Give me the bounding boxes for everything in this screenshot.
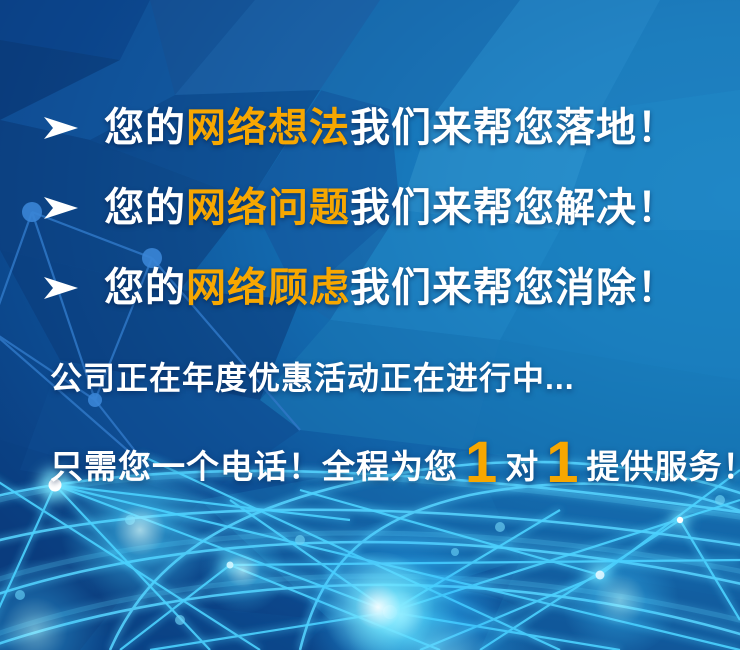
bullet-2-highlight: 网络问题 <box>186 186 350 230</box>
bullet-1-prefix: 您的 <box>104 106 186 150</box>
promo-number-one-second: 1 <box>546 434 579 492</box>
bullet-3-prefix: 您的 <box>104 266 186 310</box>
bullet-row-2: 您的网络问题我们来帮您解决！ <box>0 178 740 238</box>
bullet-text-2: 您的网络问题我们来帮您解决！ <box>104 188 678 228</box>
promo-line-2: 只需您一个电话！全程为您 1 对 1 提供服务！ <box>50 430 740 488</box>
bullet-1-suffix: 我们来帮您落地！ <box>350 106 678 150</box>
bullet-2-prefix: 您的 <box>104 186 186 230</box>
arrow-right-triangle-icon <box>44 195 78 221</box>
bullet-3-suffix: 我们来帮您消除！ <box>350 266 678 310</box>
promo-line-1: 公司正在年度优惠活动正在进行中... <box>50 362 575 394</box>
bullet-2-suffix: 我们来帮您解决！ <box>350 186 678 230</box>
bullet-3-highlight: 网络顾虑 <box>186 266 350 310</box>
promo-line-2-part1: 只需您一个电话！全程为您 <box>50 450 458 483</box>
arrow-right-triangle-icon <box>44 115 78 141</box>
bullet-row-3: 您的网络顾虑我们来帮您消除！ <box>0 258 740 318</box>
bullet-text-3: 您的网络顾虑我们来帮您消除！ <box>104 268 678 308</box>
promo-banner: 您的网络想法我们来帮您落地！ 您的网络问题我们来帮您解决！ 您的网络顾虑我们 <box>0 0 740 650</box>
arrow-right-triangle-icon <box>44 275 78 301</box>
promo-line-2-middle: 对 <box>505 450 539 483</box>
promo-line-2-part2: 提供服务！ <box>587 450 740 483</box>
promo-number-one-first: 1 <box>465 434 498 492</box>
bullet-1-highlight: 网络想法 <box>186 106 350 150</box>
banner-content: 您的网络想法我们来帮您落地！ 您的网络问题我们来帮您解决！ 您的网络顾虑我们 <box>0 0 740 650</box>
bullet-text-1: 您的网络想法我们来帮您落地！ <box>104 108 678 148</box>
bullet-row-1: 您的网络想法我们来帮您落地！ <box>0 98 740 158</box>
